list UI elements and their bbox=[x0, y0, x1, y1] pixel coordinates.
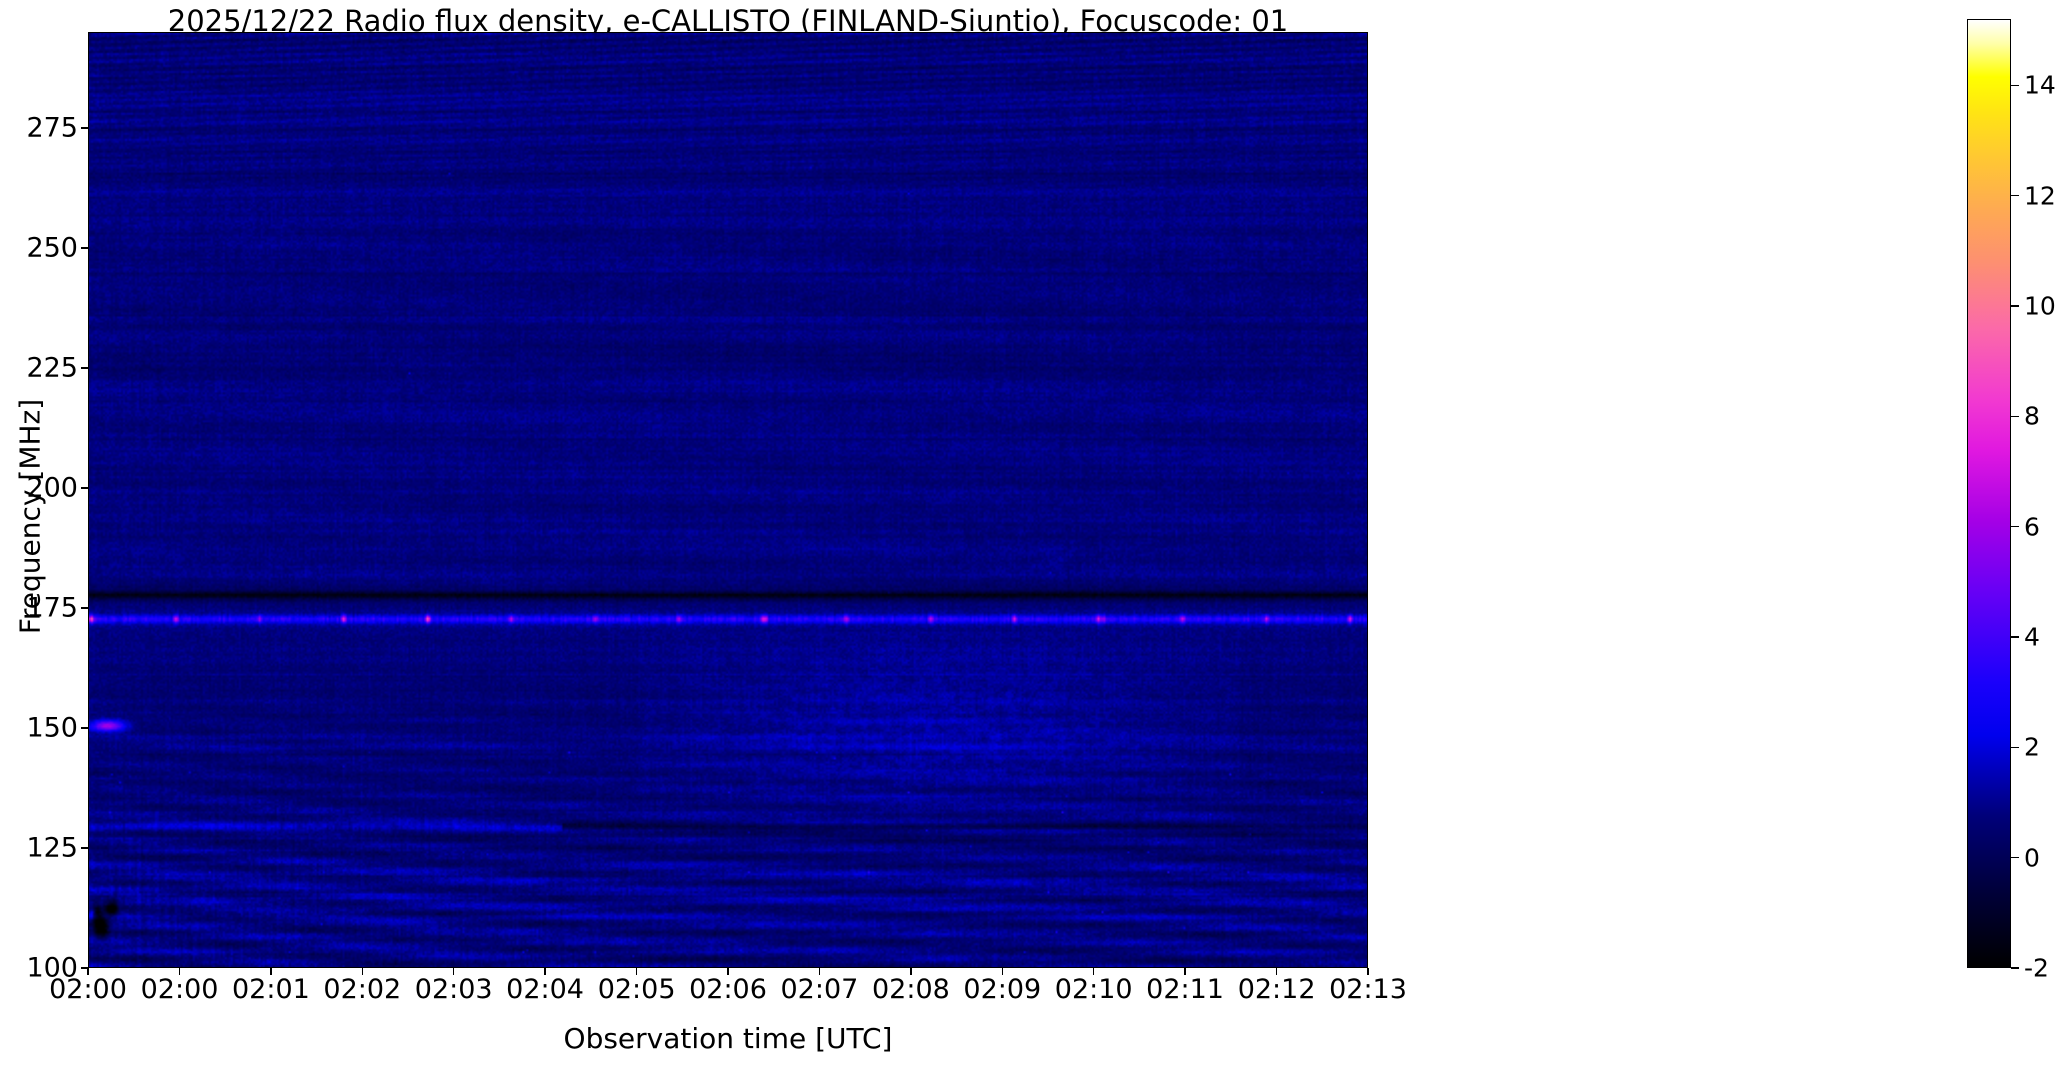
x-tick-mark bbox=[1093, 968, 1094, 975]
x-tick-label: 02:03 bbox=[415, 974, 493, 1005]
colorbar-tick-label: -2 bbox=[2024, 954, 2049, 983]
y-tick-label: 150 bbox=[8, 713, 78, 744]
colorbar-tick-label: 8 bbox=[2024, 402, 2040, 431]
x-tick-mark bbox=[1002, 968, 1003, 975]
spectrogram-axes bbox=[88, 32, 1368, 968]
colorbar-tick-mark bbox=[2011, 526, 2019, 527]
colorbar-tick-label: 14 bbox=[2024, 71, 2056, 100]
x-tick-mark bbox=[1184, 968, 1185, 975]
x-tick-label: 02:00 bbox=[141, 974, 219, 1005]
x-tick-label: 02:06 bbox=[689, 974, 767, 1005]
colorbar-tick-mark bbox=[2011, 636, 2019, 637]
colorbar-tick-label: 10 bbox=[2024, 291, 2056, 320]
y-tick-label: 125 bbox=[8, 833, 78, 864]
colorbar-tick-mark bbox=[2011, 967, 2019, 968]
x-tick-mark bbox=[544, 968, 545, 975]
x-tick-label: 02:05 bbox=[598, 974, 676, 1005]
y-tick-mark bbox=[81, 247, 88, 248]
colorbar-tick-label: 0 bbox=[2024, 843, 2040, 872]
y-tick-mark bbox=[81, 367, 88, 368]
x-tick-mark bbox=[1367, 968, 1368, 975]
y-tick-label: 225 bbox=[8, 353, 78, 384]
colorbar-tick-mark bbox=[2011, 85, 2019, 86]
colorbar-tick-mark bbox=[2011, 416, 2019, 417]
x-tick-label: 02:10 bbox=[1055, 974, 1133, 1005]
x-tick-label: 02:04 bbox=[506, 974, 584, 1005]
x-tick-mark bbox=[636, 968, 637, 975]
x-tick-mark bbox=[179, 968, 180, 975]
spectrogram-image-wrapper bbox=[89, 33, 1367, 967]
x-tick-mark bbox=[453, 968, 454, 975]
x-tick-mark bbox=[819, 968, 820, 975]
x-tick-mark bbox=[910, 968, 911, 975]
x-tick-label: 02:13 bbox=[1329, 974, 1407, 1005]
x-tick-label: 02:02 bbox=[323, 974, 401, 1005]
x-tick-mark bbox=[270, 968, 271, 975]
colorbar-tick-label: 6 bbox=[2024, 512, 2040, 541]
y-tick-label: 200 bbox=[8, 473, 78, 504]
y-tick-mark bbox=[81, 727, 88, 728]
colorbar-tick-label: 4 bbox=[2024, 622, 2040, 651]
y-tick-mark bbox=[81, 607, 88, 608]
x-tick-mark bbox=[87, 968, 88, 975]
x-axis-label: Observation time [UTC] bbox=[88, 1022, 1368, 1055]
x-tick-mark bbox=[362, 968, 363, 975]
colorbar-gradient bbox=[1968, 20, 2010, 967]
x-tick-mark bbox=[1276, 968, 1277, 975]
x-tick-label: 02:01 bbox=[232, 974, 310, 1005]
x-tick-label: 02:09 bbox=[963, 974, 1041, 1005]
colorbar-tick-label: 2 bbox=[2024, 733, 2040, 762]
colorbar-tick-mark bbox=[2011, 747, 2019, 748]
y-tick-mark bbox=[81, 487, 88, 488]
y-tick-label: 250 bbox=[8, 233, 78, 264]
y-tick-label: 175 bbox=[8, 593, 78, 624]
x-tick-label: 02:11 bbox=[1146, 974, 1224, 1005]
spectrogram-image bbox=[89, 33, 1367, 967]
x-tick-label: 02:12 bbox=[1238, 974, 1316, 1005]
colorbar-tick-mark bbox=[2011, 195, 2019, 196]
y-tick-mark bbox=[81, 847, 88, 848]
colorbar-tick-label: 12 bbox=[2024, 181, 2056, 210]
colorbar-tick-mark bbox=[2011, 857, 2019, 858]
y-axis-label: Frequency [MHz] bbox=[14, 257, 47, 777]
x-tick-mark bbox=[727, 968, 728, 975]
x-tick-label: 02:07 bbox=[780, 974, 858, 1005]
colorbar bbox=[1967, 19, 2011, 968]
y-tick-label: 275 bbox=[8, 113, 78, 144]
x-tick-label: 02:00 bbox=[49, 974, 127, 1005]
x-tick-label: 02:08 bbox=[872, 974, 950, 1005]
y-tick-mark bbox=[81, 127, 88, 128]
figure-canvas: 2025/12/22 Radio flux density, e-CALLIST… bbox=[0, 0, 2066, 1067]
colorbar-tick-mark bbox=[2011, 305, 2019, 306]
